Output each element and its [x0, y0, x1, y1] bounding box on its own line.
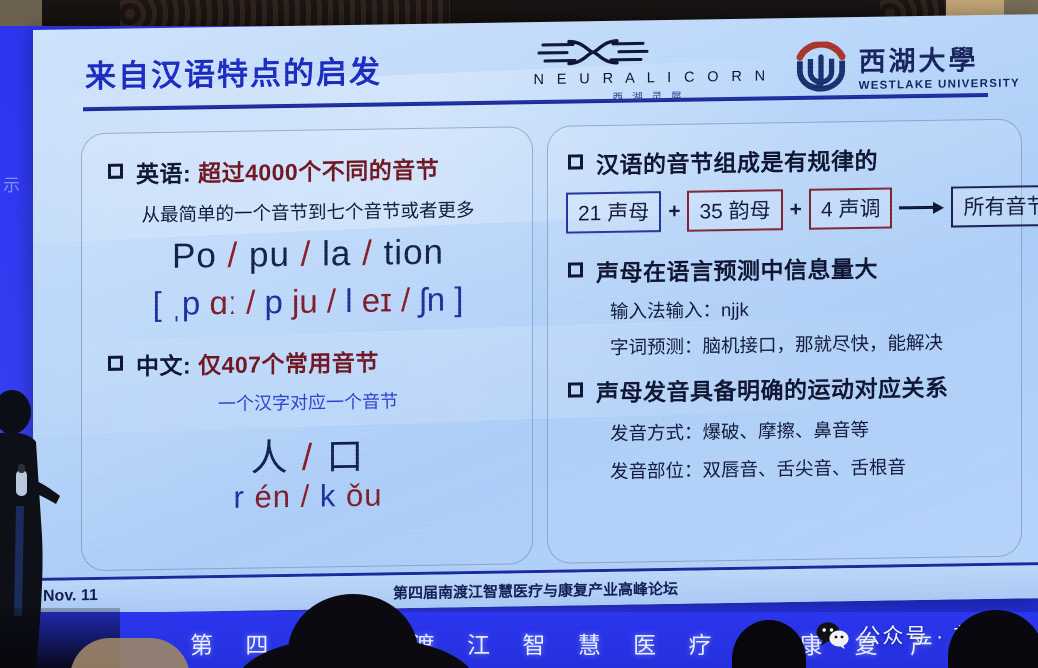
westlake-english-name: WESTLAKE UNIVERSITY: [859, 77, 1020, 92]
ipa-consonant-3: l: [345, 282, 352, 319]
articulation-heading: 声母发音具备明确的运动对应关系: [596, 369, 949, 409]
formula-initials-box: 21 声母: [566, 191, 661, 233]
chinese-char-2: 口: [326, 436, 365, 478]
ipa-separator-3: /: [401, 281, 410, 318]
wechat-icon: [816, 621, 850, 649]
english-heading-row: 英语: 超过4000个不同的音节: [108, 151, 439, 190]
syllable-4: tion: [384, 233, 444, 273]
chinese-characters: 人 / 口: [82, 423, 534, 484]
articulation-heading-row: 声母发音具备明确的运动对应关系: [568, 369, 949, 409]
ipa-consonant-2: p: [265, 283, 283, 320]
neuralicorn-logo: N E U R A L I C O R N 西湖灵犀: [533, 32, 769, 106]
char-separator: /: [302, 437, 314, 478]
ipa-consonant-1: ˌp: [171, 284, 200, 321]
westlake-wordmark: 西湖大學 WESTLAKE UNIVERSITY: [859, 37, 1020, 92]
formula-tones-box: 4 声调: [809, 187, 893, 229]
formula-finals-box: 35 韵母: [687, 189, 782, 231]
syllable-3: la: [322, 234, 351, 273]
pinyin-final-1: én: [254, 479, 290, 515]
ime-input-line: 输入法输入：njjk: [610, 296, 749, 324]
neuralicorn-chinese-name: 西湖灵犀: [533, 87, 769, 106]
chinese-heading-row: 中文: 仅407个常用音节: [108, 344, 379, 382]
formula-plus-1: +: [668, 199, 680, 223]
neuralicorn-mark-icon: [533, 34, 653, 70]
english-heading: 英语: 超过4000个不同的音节: [136, 151, 439, 190]
word-prediction-line: 字词预测：脑机接口，那就尽快，能解决: [610, 329, 943, 360]
ipa-separator-2: /: [327, 282, 336, 319]
ipa-vowel-2: ju: [292, 283, 318, 320]
pinyin-separator: /: [301, 479, 311, 514]
english-word-syllables: Po / pu / la / tion: [82, 231, 534, 278]
prediction-heading: 声母在语言预测中信息量大: [596, 250, 878, 288]
chinese-heading-accent: 仅407个常用音节: [198, 350, 379, 379]
venue-stage: 示 来自汉语特点的启发: [0, 0, 1038, 668]
chinese-pinyin: r én / k ǒu: [82, 475, 534, 518]
pinyin-final-2: ǒu: [346, 478, 382, 514]
ipa-vowel-1: ɑː: [209, 284, 237, 321]
westlake-chinese-name: 西湖大學: [859, 37, 1020, 79]
articulation-place-line: 发音部位：双唇音、舌尖音、舌根音: [610, 453, 906, 484]
logo-group: N E U R A L I C O R N 西湖灵犀 西湖大學 WESTLAKE…: [533, 28, 1020, 106]
prediction-heading-row: 声母在语言预测中信息量大: [568, 250, 878, 289]
english-ipa-transcription: [ ˌp ɑː / p ju / l eɪ / ʃn ]: [82, 279, 534, 324]
syllable-structure-heading: 汉语的音节组成是有规律的: [596, 142, 878, 180]
formula-result-box: 所有音节: [951, 185, 1038, 228]
syllable-2: pu: [249, 235, 290, 275]
pinyin-initial-2: k: [320, 478, 337, 513]
neuralicorn-wordmark: N E U R A L I C O R N: [533, 68, 769, 88]
ipa-close-bracket: ]: [454, 280, 463, 317]
ipa-open-bracket: [: [153, 285, 162, 322]
ipa-vowel-3: eɪ: [362, 281, 392, 318]
right-content-panel: 汉语的音节组成是有规律的 21 声母 + 35 韵母 + 4 声调 所有音节 声…: [547, 118, 1022, 563]
left-content-panel: 英语: 超过4000个不同的音节 从最简单的一个音节到七个音节或者更多 Po /…: [81, 126, 533, 571]
english-heading-accent: 超过4000个不同的音节: [198, 157, 439, 187]
checkbox-square-icon: [108, 356, 123, 371]
checkbox-square-icon: [568, 154, 583, 169]
english-subtext: 从最简单的一个音节到七个音节或者更多: [82, 195, 534, 228]
pinyin-initial-1: r: [234, 480, 245, 515]
ipa-separator-1: /: [246, 284, 255, 321]
checkbox-square-icon: [108, 164, 123, 179]
english-heading-label: 英语:: [136, 160, 198, 187]
chinese-subtext: 一个汉字对应一个音节: [82, 385, 534, 418]
articulation-manner-line: 发音方式：爆破、摩擦、鼻音等: [610, 416, 869, 446]
formula-arrow-icon: [899, 201, 944, 214]
formula-plus-2: +: [790, 197, 802, 221]
westlake-logo: 西湖大學 WESTLAKE UNIVERSITY: [792, 37, 1020, 93]
syllable-separator-1: /: [228, 236, 239, 275]
chinese-char-1: 人: [251, 437, 290, 479]
syllable-separator-2: /: [301, 235, 312, 274]
slide-title: 来自汉语特点的启发: [85, 47, 382, 97]
syllable-formula: 21 声母 + 35 韵母 + 4 声调 所有音节: [566, 186, 1016, 234]
led-side-text: 示: [0, 176, 22, 193]
syllable-separator-3: /: [362, 234, 373, 273]
westlake-emblem-icon: [792, 41, 850, 92]
chinese-heading-label: 中文:: [136, 352, 198, 379]
presentation-slide: 来自汉语特点的启发 N E U R A L I: [33, 14, 1038, 614]
checkbox-square-icon: [568, 262, 583, 277]
syllable-structure-heading-row: 汉语的音节组成是有规律的: [568, 142, 878, 181]
chinese-heading: 中文: 仅407个常用音节: [136, 344, 379, 382]
checkbox-square-icon: [568, 382, 583, 397]
ipa-consonant-4: ʃn: [419, 281, 445, 318]
syllable-1: Po: [172, 236, 217, 276]
